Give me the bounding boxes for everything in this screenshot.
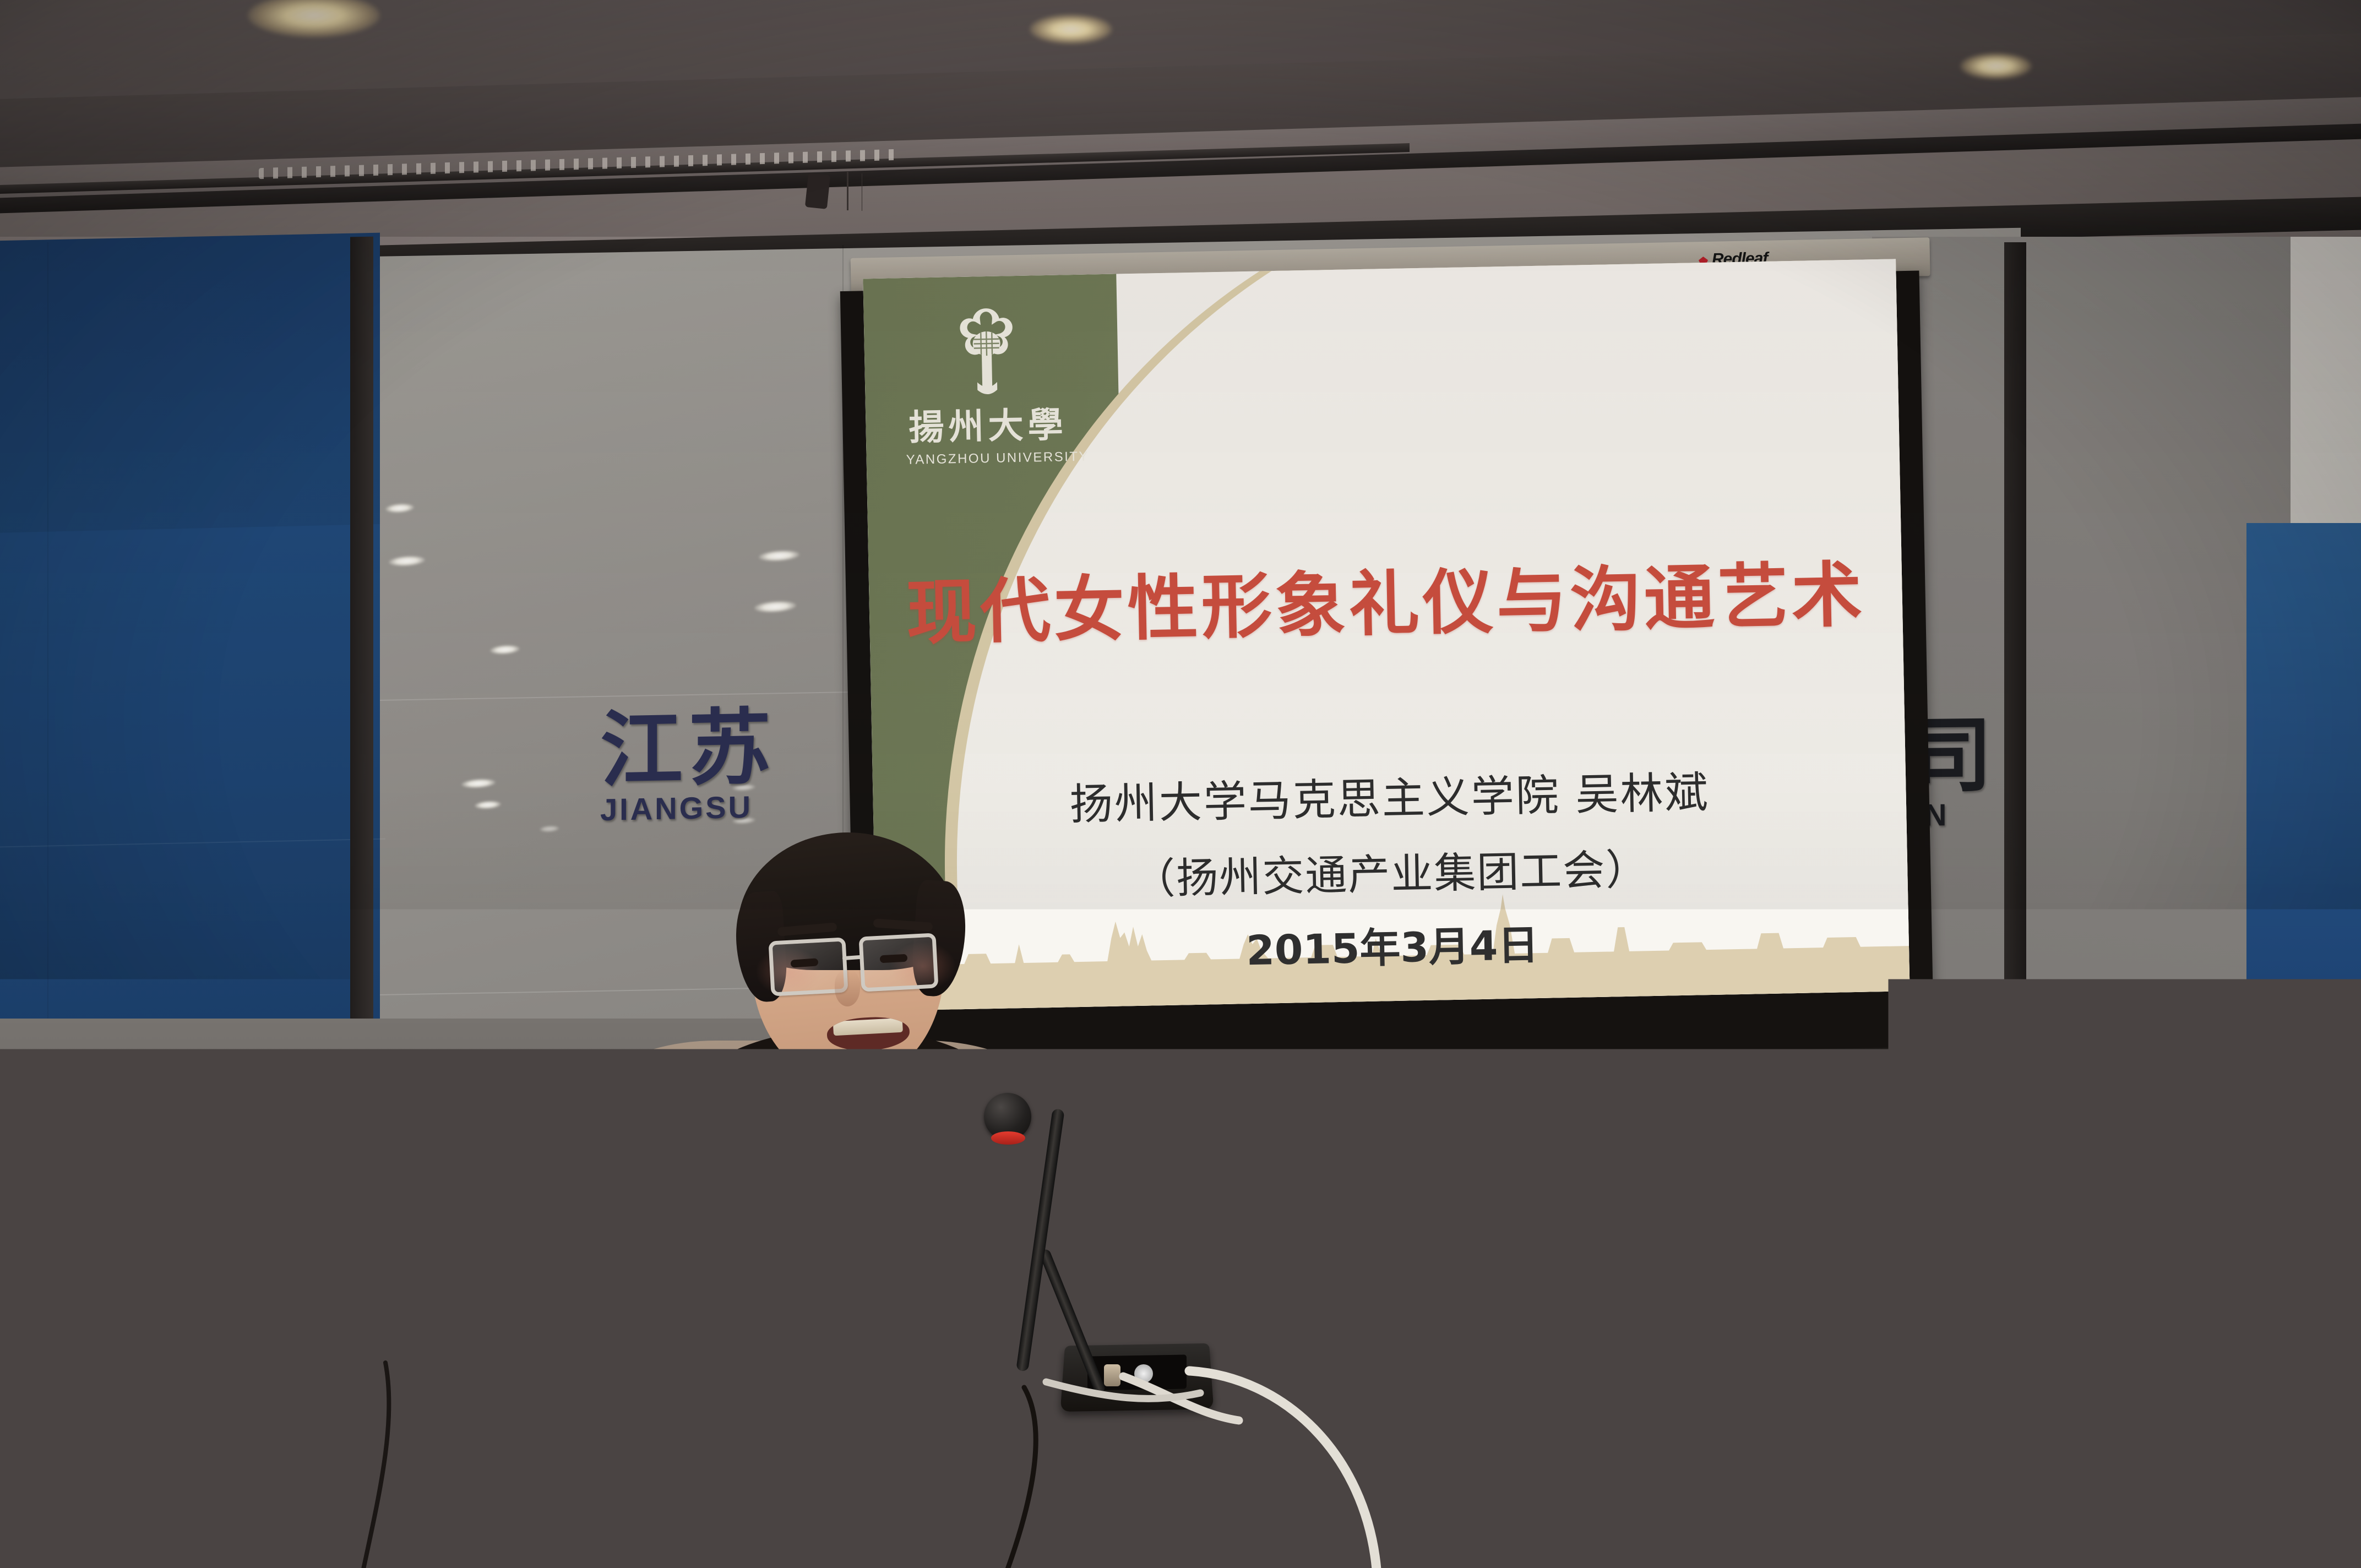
- slide-surface: 揚州大學 YANGZHOU UNIVERSITY 现代女性形象礼仪与沟通艺术 扬…: [863, 259, 1910, 1011]
- ceiling-spotlight-icon: [1960, 53, 2032, 79]
- wall-seam: [47, 242, 48, 1118]
- microphone-red-ring: [138, 1151, 160, 1159]
- slide-title: 现代女性形象礼仪与沟通艺术: [868, 537, 1903, 658]
- yangzhou-university-crest-icon: [942, 304, 1031, 405]
- wall-sign-jiangsu-en: JIANGSU: [600, 791, 776, 824]
- slide-university-logo: 揚州大學 YANGZHOU UNIVERSITY: [903, 303, 1071, 468]
- lecturer-inner-layer: [801, 1087, 906, 1137]
- lecturer-eye-right: [880, 954, 908, 963]
- slide-logo-name-en: YANGZHOU UNIVERSITY: [906, 449, 1071, 468]
- curtain-weight: [805, 173, 830, 209]
- lecturer-teeth: [833, 1018, 903, 1036]
- curtain-cord: [847, 172, 848, 210]
- lecture-room-photo: 江苏 JIANGSU 公司 RATION Redleaf: [0, 0, 2361, 1568]
- thermos-cap[interactable]: [497, 1223, 564, 1255]
- projector-screen-pull-handle[interactable]: [1351, 1077, 1361, 1130]
- microphone-red-ring: [991, 1131, 1025, 1145]
- ceiling-spotlight-icon: [1030, 14, 1112, 44]
- wall-pillar-left: [350, 237, 373, 1063]
- laptop-brand-label: DELL: [828, 1284, 882, 1306]
- wall-sign-corporation-cn: 公司: [1889, 714, 2241, 797]
- wall-sign-corporation-en: RATION: [1889, 797, 2241, 830]
- slide-subtitle-block: 扬州大学马克思主义学院 吴林斌 （扬州交通产业集团工会） 2015年3月4日: [873, 754, 1910, 984]
- slide-organization-line: （扬州交通产业集团工会）: [874, 830, 1908, 911]
- wall-panel-blue-right: [2246, 523, 2361, 1019]
- wall-sign-jiangsu-cn: 江苏: [600, 709, 776, 791]
- thermos-seam: [497, 1254, 564, 1256]
- wall-sign-corporation: 公司 RATION: [1889, 714, 2241, 830]
- wall-pillar-right: [2004, 242, 2026, 1046]
- lecturer-nose: [835, 970, 860, 1006]
- lecturer-glasses-lens-right: [858, 933, 938, 992]
- projector-screen: Redleaf: [840, 237, 1947, 1150]
- desk-cables: [0, 1310, 2361, 1568]
- wooden-panel-right: [2280, 1121, 2361, 1306]
- slide-logo-name-cn: 揚州大學: [905, 407, 1071, 446]
- wall-sign-jiangsu: 江苏 JIANGSU: [600, 709, 776, 824]
